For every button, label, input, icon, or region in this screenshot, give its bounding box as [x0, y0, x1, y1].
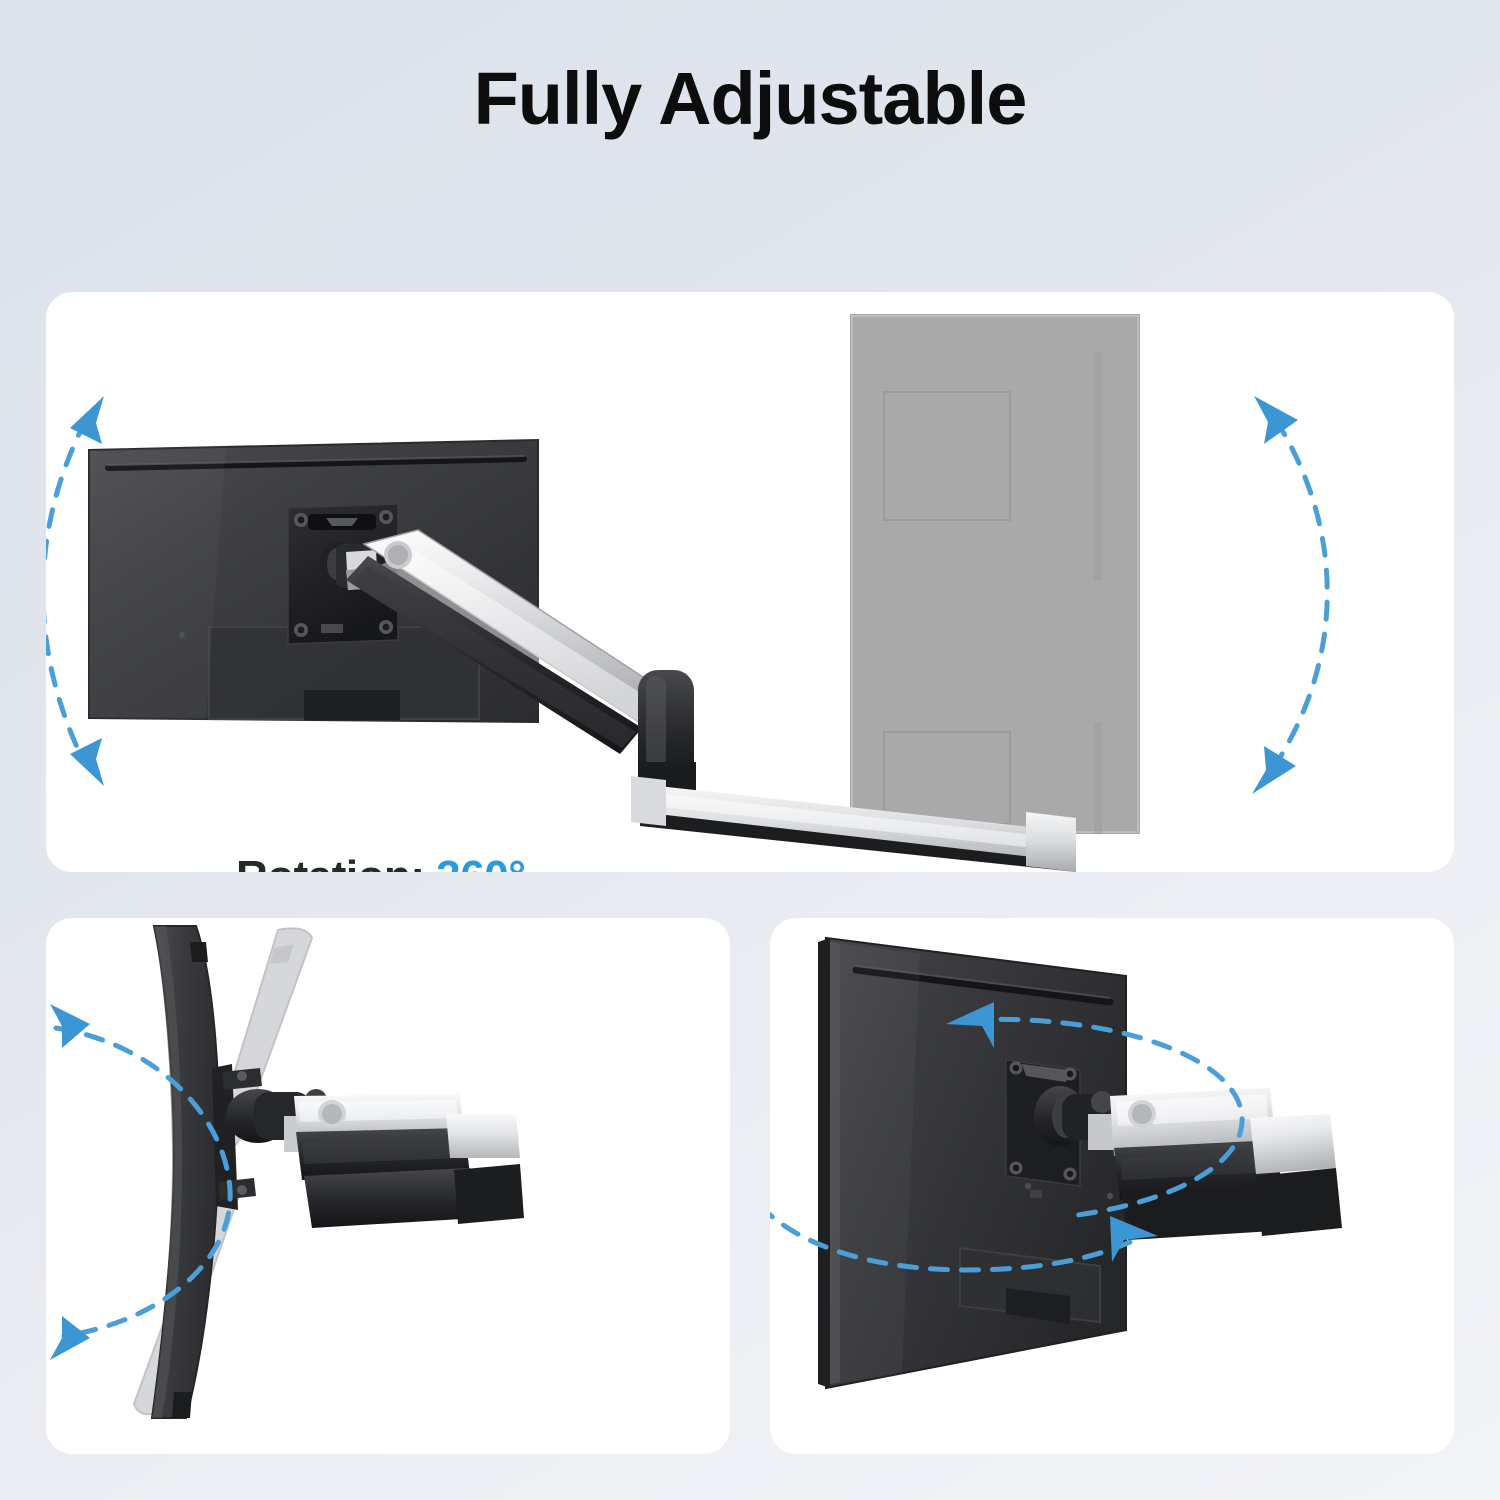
rotation-arc-right: [1252, 396, 1327, 794]
panel-card-swivel: Swivel: ±90°: [770, 918, 1454, 1454]
arrow-head-up: [1254, 396, 1298, 444]
monitor-side-profile: [152, 926, 219, 1418]
arrow-head-down: [1252, 746, 1296, 794]
ghost-monitor-portrait: [850, 314, 1140, 834]
page-title: Fully Adjustable: [0, 56, 1500, 141]
panel-card-tilt: Tilt: +85°/-90°: [46, 918, 730, 1454]
arrow-head-up: [70, 396, 104, 444]
monitor-arm-swivel: [1110, 1088, 1342, 1240]
rotation-label-text: Rotation:: [236, 852, 436, 872]
rotation-label-value: 360°: [436, 852, 525, 872]
rotation-label: Rotation: 360°: [236, 852, 525, 872]
tilt-illustration: [46, 918, 730, 1454]
monitor-arm-elbow: [638, 670, 696, 792]
panel-card-rotation: Rotation: 360°: [46, 292, 1454, 872]
arrow-head-down: [50, 1316, 90, 1360]
swivel-illustration: [770, 918, 1454, 1454]
monitor-arm-tilt: [226, 1089, 524, 1228]
rotation-illustration: [46, 292, 1454, 872]
